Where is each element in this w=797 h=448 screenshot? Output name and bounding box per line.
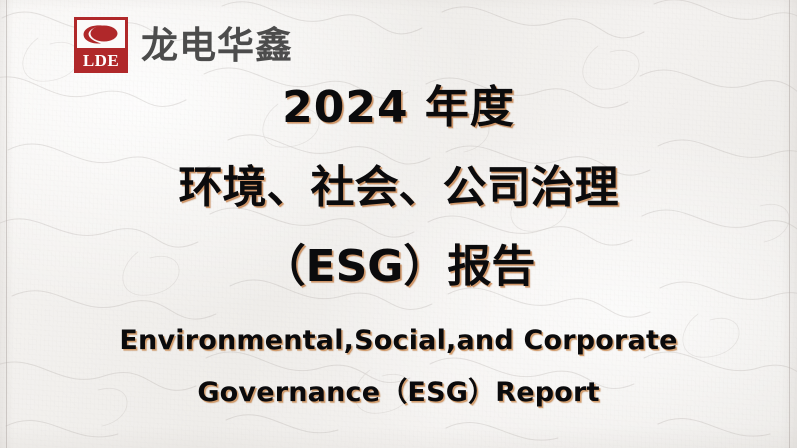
company-name: 龙电华鑫 <box>141 27 293 64</box>
swoosh-ellipse-icon <box>81 23 121 45</box>
logo-plate <box>77 20 125 48</box>
brand-lockup: LDE 龙电华鑫 <box>74 17 293 73</box>
logo-wordmark: LDE <box>77 48 125 73</box>
report-subtitle-line-1: Environmental,Social,and Corporate <box>0 327 797 354</box>
report-title-line-2: 环境、社会、公司治理 <box>0 166 797 210</box>
report-year-title: 2024 年度 <box>0 86 797 130</box>
title-block: 2024 年度 环境、社会、公司治理 （ESG）报告 Environmental… <box>0 86 797 406</box>
lde-logo-mark: LDE <box>74 17 128 73</box>
esg-report-cover-page: LDE 龙电华鑫 2024 年度 环境、社会、公司治理 （ESG）报告 Envi… <box>0 0 797 448</box>
report-title-line-3: （ESG）报告 <box>0 245 797 289</box>
report-subtitle-line-2: Governance（ESG）Report <box>0 379 797 406</box>
